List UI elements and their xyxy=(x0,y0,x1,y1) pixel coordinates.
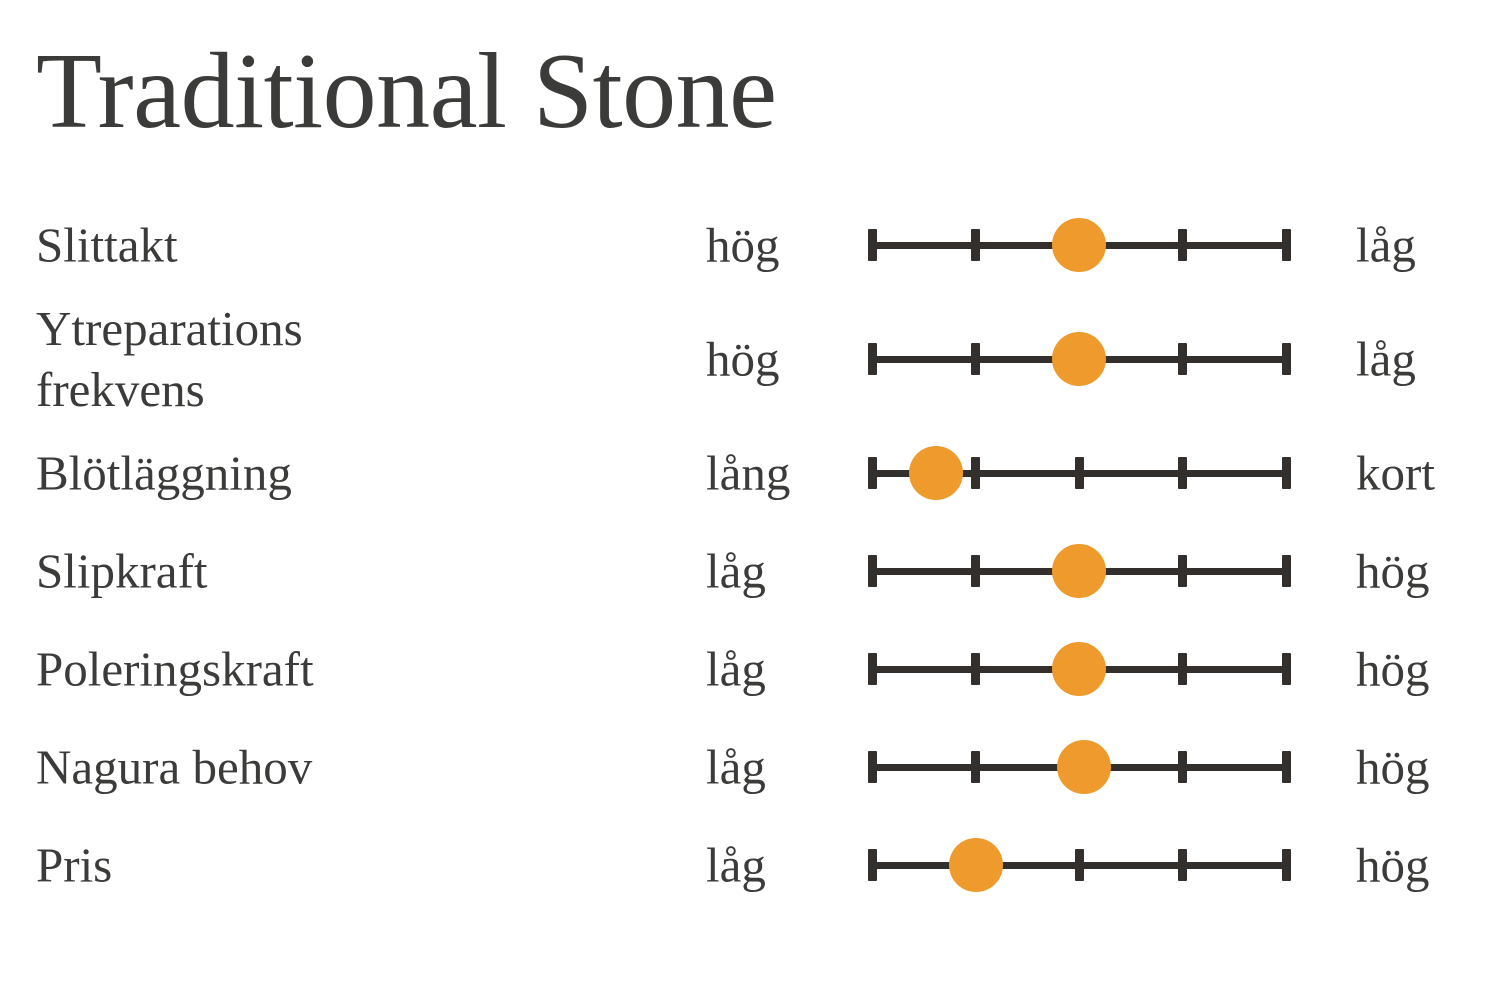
rating-scale[interactable] xyxy=(866,543,1292,599)
scale-tick xyxy=(1282,653,1291,685)
scale-tick xyxy=(1178,849,1187,881)
rating-scale[interactable] xyxy=(866,641,1292,697)
scale-tick xyxy=(868,229,877,261)
rating-scale[interactable] xyxy=(866,217,1292,273)
table-row: Slittakt hög låg xyxy=(0,196,1500,294)
criterion-label: Ytreparations frekvens xyxy=(36,298,676,421)
rating-scale[interactable] xyxy=(866,331,1292,387)
table-row: Slipkraft låg hög xyxy=(0,522,1500,620)
table-row: Pris låg hög xyxy=(0,816,1500,914)
scale-tick xyxy=(868,849,877,881)
scale-right-label: låg xyxy=(1356,335,1500,384)
scale-marker-dot[interactable] xyxy=(909,446,963,500)
scale-tick xyxy=(971,229,980,261)
scale-left-label: hög xyxy=(706,221,856,270)
scale-tick xyxy=(868,751,877,783)
criterion-label: Pris xyxy=(36,834,676,895)
scale-tick xyxy=(868,555,877,587)
table-row: Ytreparations frekvens hög låg xyxy=(0,294,1500,424)
scale-left-label: låg xyxy=(706,841,856,890)
scale-tick xyxy=(1178,555,1187,587)
scale-tick xyxy=(1178,653,1187,685)
scale-tick xyxy=(1075,457,1084,489)
scale-right-label: hög xyxy=(1356,841,1500,890)
page-title: Traditional Stone xyxy=(36,34,777,151)
scale-marker-dot[interactable] xyxy=(949,838,1003,892)
scale-tick xyxy=(1178,229,1187,261)
criterion-label: Slipkraft xyxy=(36,540,676,601)
criterion-label: Poleringskraft xyxy=(36,638,676,699)
scale-tick xyxy=(971,343,980,375)
scale-left-label: låg xyxy=(706,645,856,694)
scale-tick xyxy=(868,343,877,375)
table-row: Nagura behov låg hög xyxy=(0,718,1500,816)
scale-tick xyxy=(1178,343,1187,375)
criterion-label: Blötläggning xyxy=(36,442,676,503)
scale-tick xyxy=(971,555,980,587)
scale-tick xyxy=(1178,751,1187,783)
scale-tick xyxy=(1282,229,1291,261)
scale-tick xyxy=(868,653,877,685)
rating-scale[interactable] xyxy=(866,837,1292,893)
scale-marker-dot[interactable] xyxy=(1052,642,1106,696)
scale-tick xyxy=(1075,849,1084,881)
scale-right-label: hög xyxy=(1356,547,1500,596)
scale-left-label: hög xyxy=(706,335,856,384)
scale-left-label: lång xyxy=(706,449,856,498)
scale-tick xyxy=(868,457,877,489)
scale-right-label: kort xyxy=(1356,449,1500,498)
scale-tick xyxy=(1282,457,1291,489)
scale-tick xyxy=(971,653,980,685)
scale-right-label: låg xyxy=(1356,221,1500,270)
scale-marker-dot[interactable] xyxy=(1052,332,1106,386)
scale-marker-dot[interactable] xyxy=(1052,544,1106,598)
scale-marker-dot[interactable] xyxy=(1052,218,1106,272)
scale-tick xyxy=(971,457,980,489)
scale-left-label: låg xyxy=(706,743,856,792)
criterion-label: Slittakt xyxy=(36,214,676,275)
table-row: Poleringskraft låg hög xyxy=(0,620,1500,718)
table-row: Blötläggning lång kort xyxy=(0,424,1500,522)
scale-left-label: låg xyxy=(706,547,856,596)
scale-right-label: hög xyxy=(1356,645,1500,694)
rating-scale[interactable] xyxy=(866,445,1292,501)
rating-rows: Slittakt hög låg Ytreparations frekvens … xyxy=(0,196,1500,914)
stone-rating-card: Traditional Stone Slittakt hög låg Ytrep… xyxy=(0,0,1500,1000)
scale-tick xyxy=(1282,343,1291,375)
rating-scale[interactable] xyxy=(866,739,1292,795)
scale-tick xyxy=(971,751,980,783)
scale-tick xyxy=(1282,751,1291,783)
scale-tick xyxy=(1282,555,1291,587)
scale-marker-dot[interactable] xyxy=(1057,740,1111,794)
scale-tick xyxy=(1178,457,1187,489)
scale-right-label: hög xyxy=(1356,743,1500,792)
criterion-label: Nagura behov xyxy=(36,736,676,797)
scale-tick xyxy=(1282,849,1291,881)
